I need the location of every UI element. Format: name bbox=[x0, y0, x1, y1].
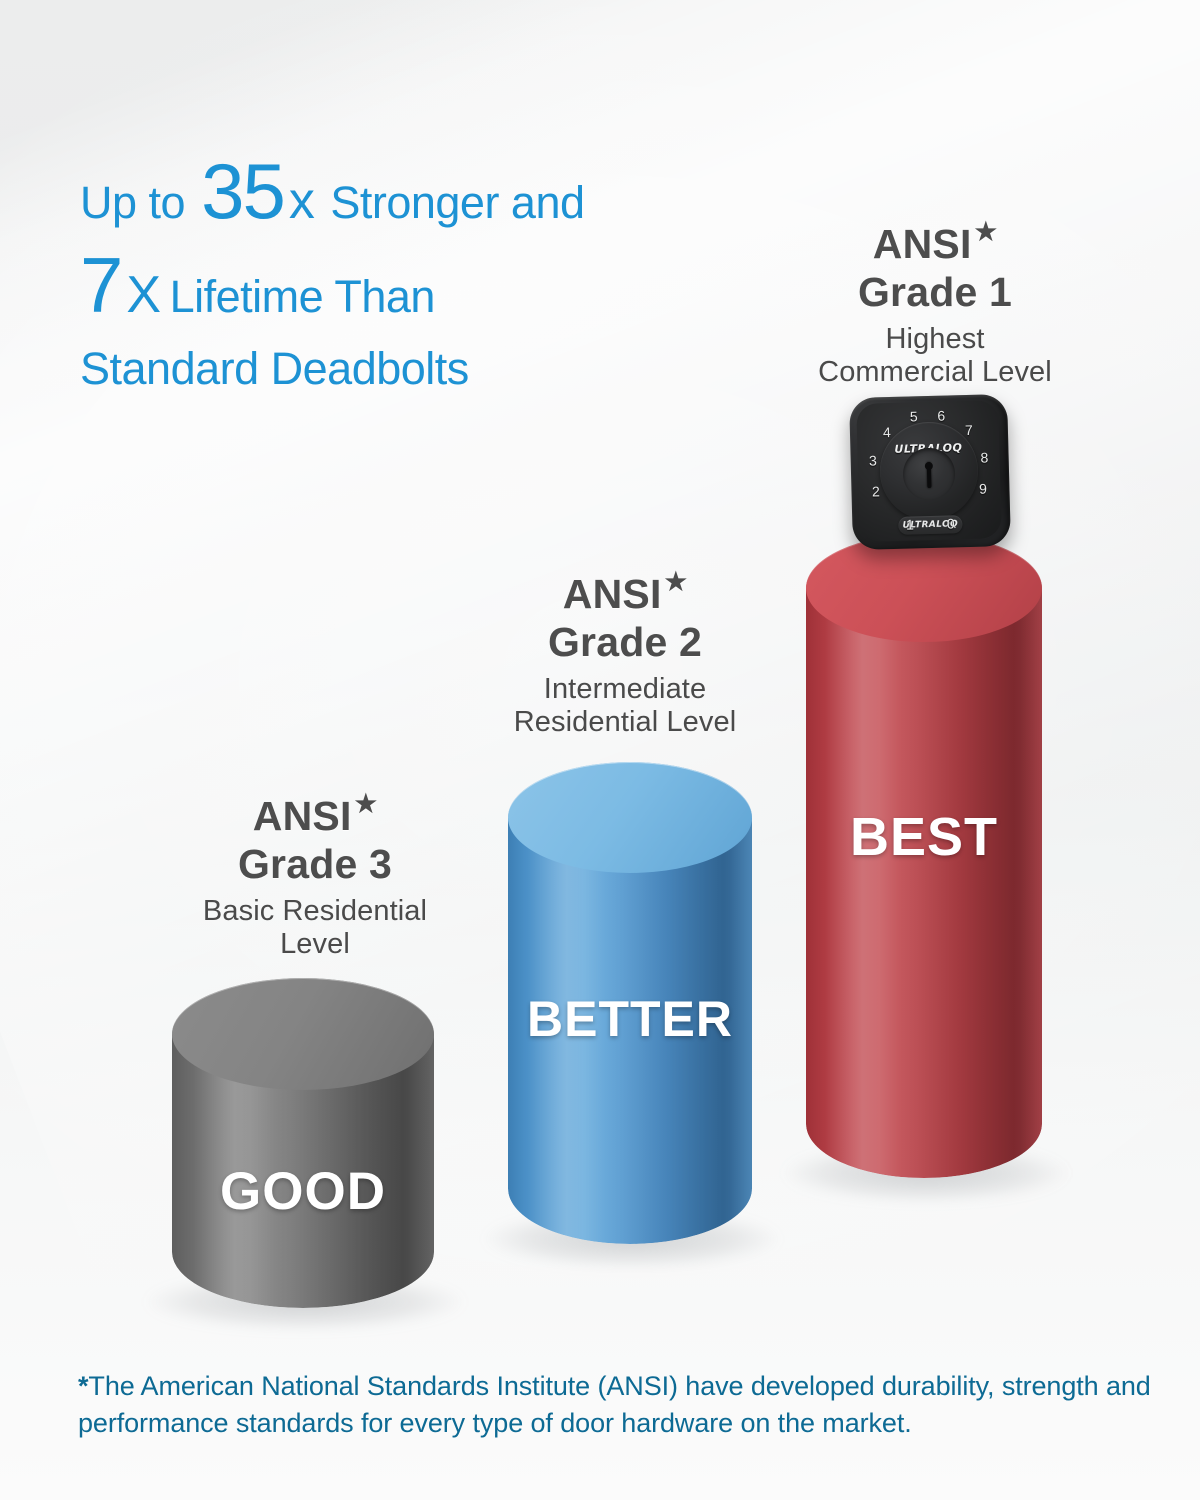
grade-3-description-line-1: Basic Residential bbox=[160, 895, 470, 929]
keypad-digit-8[interactable]: 8 bbox=[974, 447, 995, 468]
headline-up-to: Up to bbox=[80, 180, 185, 225]
keyhole-slot-icon bbox=[927, 462, 932, 488]
asterisk-star-icon: ★ bbox=[355, 790, 378, 818]
keypad-digit-1[interactable]: 1 bbox=[900, 514, 921, 535]
keypad-digit-2[interactable]: 2 bbox=[866, 482, 887, 503]
headline: Up to 35 x Stronger and 7 X Lifetime Tha… bbox=[80, 152, 740, 391]
pillar-grade-1-best: BEST bbox=[806, 534, 1042, 1178]
footnote-text: The American National Standards Institut… bbox=[78, 1371, 1151, 1438]
grade-label-grade-2: ANSI★ Grade 2 Intermediate Residential L… bbox=[470, 568, 780, 740]
grade-1-title: ANSI★ Grade 1 bbox=[785, 218, 1085, 317]
headline-multiplier-7: 7 bbox=[80, 246, 121, 324]
pillar-top-cap bbox=[806, 534, 1042, 642]
grade-2-description-line-2: Residential Level bbox=[470, 706, 780, 740]
headline-standard-deadbolts: Standard Deadbolts bbox=[80, 346, 469, 391]
grade-3-title: ANSI★ Grade 3 bbox=[160, 790, 470, 889]
pillar-grade-2-better: BETTER bbox=[508, 762, 752, 1244]
keypad-digit-6[interactable]: 6 bbox=[931, 405, 952, 426]
headline-multiplier-35-x: x bbox=[289, 175, 315, 227]
smart-lock-device[interactable]: ULTRALOQ ULTRALOQ 1234567890 bbox=[849, 394, 1011, 550]
headline-line-1: Up to 35 x Stronger and bbox=[80, 152, 740, 230]
footnote: *The American National Standards Institu… bbox=[78, 1368, 1158, 1443]
infographic-canvas: Up to 35 x Stronger and 7 X Lifetime Tha… bbox=[0, 0, 1200, 1500]
grade-3-description-line-2: Level bbox=[160, 928, 470, 962]
grade-2-title: ANSI★ Grade 2 bbox=[470, 568, 780, 667]
pillar-grade-3-good: GOOD bbox=[172, 978, 434, 1308]
grade-3-description: Basic Residential Level bbox=[160, 895, 470, 962]
grade-2-ansi-text: ANSI bbox=[563, 571, 662, 617]
grade-1-description-line-1: Highest bbox=[785, 323, 1085, 357]
headline-line-2: 7 X Lifetime Than bbox=[80, 246, 740, 324]
footnote-asterisk: * bbox=[78, 1371, 88, 1401]
lock-faceplate: ULTRALOQ ULTRALOQ 1234567890 bbox=[856, 400, 1002, 542]
pillar-top-cap bbox=[508, 762, 752, 873]
grade-2-grade-text: Grade 2 bbox=[470, 618, 780, 666]
headline-line-3: Standard Deadbolts bbox=[80, 346, 740, 391]
headline-stronger-and: Stronger and bbox=[330, 180, 584, 225]
grade-1-description: Highest Commercial Level bbox=[785, 323, 1085, 390]
grade-3-grade-text: Grade 3 bbox=[160, 840, 470, 888]
keypad-digit-7[interactable]: 7 bbox=[959, 420, 980, 441]
grade-label-grade-3: ANSI★ Grade 3 Basic Residential Level bbox=[160, 790, 470, 962]
keypad-digit-9[interactable]: 9 bbox=[973, 479, 994, 500]
asterisk-star-icon: ★ bbox=[665, 568, 688, 596]
grade-1-description-line-2: Commercial Level bbox=[785, 356, 1085, 390]
pillar-top-cap bbox=[172, 978, 434, 1090]
grade-2-description: Intermediate Residential Level bbox=[470, 673, 780, 740]
grade-2-description-line-1: Intermediate bbox=[470, 673, 780, 707]
grade-3-ansi-text: ANSI bbox=[253, 793, 352, 839]
grade-1-ansi-text: ANSI bbox=[873, 221, 972, 267]
headline-multiplier-35: 35 bbox=[201, 152, 284, 230]
grade-label-grade-1: ANSI★ Grade 1 Highest Commercial Level bbox=[785, 218, 1085, 390]
grade-1-grade-text: Grade 1 bbox=[785, 268, 1085, 316]
headline-multiplier-7-x: X bbox=[126, 269, 160, 321]
asterisk-star-icon: ★ bbox=[975, 218, 998, 246]
headline-lifetime-than: Lifetime Than bbox=[170, 274, 435, 319]
